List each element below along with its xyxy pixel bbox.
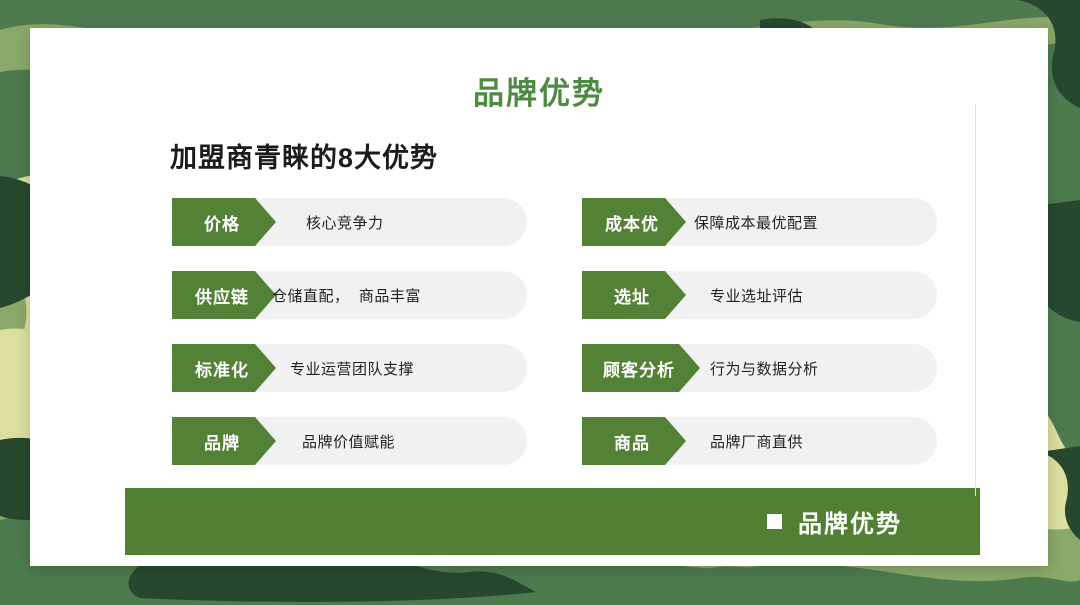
footer-label: 品牌优势 (798, 504, 902, 539)
advantage-description: 核心竞争力 (306, 198, 384, 246)
advantage-description: 专业运营团队支撑 (290, 344, 414, 392)
advantage-description: 保障成本最优配置 (694, 198, 818, 246)
advantage-tag: 品牌 (172, 417, 276, 465)
advantage-description: 专业选址评估 (710, 271, 803, 319)
subtitle: 加盟商青睐的8大优势 (170, 136, 438, 175)
advantage-description: 品牌价值赋能 (302, 417, 395, 465)
advantage-tag: 价格 (172, 198, 276, 246)
advantage-item[interactable]: 供应链 仓储直配， 商品丰富 (172, 271, 527, 319)
footer-bar: 品牌优势 (125, 488, 980, 555)
advantage-item[interactable]: 商品 品牌厂商直供 (582, 417, 937, 465)
advantage-item[interactable]: 标准化 专业运营团队支撑 (172, 344, 527, 392)
advantages-column-right: 成本优 保障成本最优配置 选址 专业选址评估 顾客分析 行为与数据分析 商品 品… (582, 198, 937, 490)
advantage-item[interactable]: 价格 核心竞争力 (172, 198, 527, 246)
square-bullet-icon (767, 514, 782, 529)
advantage-description: 品牌厂商直供 (710, 417, 803, 465)
advantage-tag: 顾客分析 (582, 344, 700, 392)
advantage-item[interactable]: 品牌 品牌价值赋能 (172, 417, 527, 465)
advantage-tag: 商品 (582, 417, 686, 465)
advantages-grid: 价格 核心竞争力 供应链 仓储直配， 商品丰富 标准化 专业运营团队支撑 品牌 … (172, 198, 962, 488)
advantage-tag: 供应链 (172, 271, 276, 319)
advantage-item[interactable]: 选址 专业选址评估 (582, 271, 937, 319)
slide-card: 品牌优势 加盟商青睐的8大优势 价格 核心竞争力 供应链 仓储直配， 商品丰富 … (30, 28, 1048, 566)
advantage-description: 仓储直配， 商品丰富 (272, 271, 421, 319)
advantages-column-left: 价格 核心竞争力 供应链 仓储直配， 商品丰富 标准化 专业运营团队支撑 品牌 … (172, 198, 527, 490)
advantage-item[interactable]: 顾客分析 行为与数据分析 (582, 344, 937, 392)
advantage-tag: 成本优 (582, 198, 686, 246)
advantage-description: 行为与数据分析 (710, 344, 819, 392)
advantage-tag: 选址 (582, 271, 686, 319)
advantage-item[interactable]: 成本优 保障成本最优配置 (582, 198, 937, 246)
page-title: 品牌优势 (30, 75, 1048, 112)
vertical-divider (975, 104, 976, 496)
advantage-tag: 标准化 (172, 344, 276, 392)
